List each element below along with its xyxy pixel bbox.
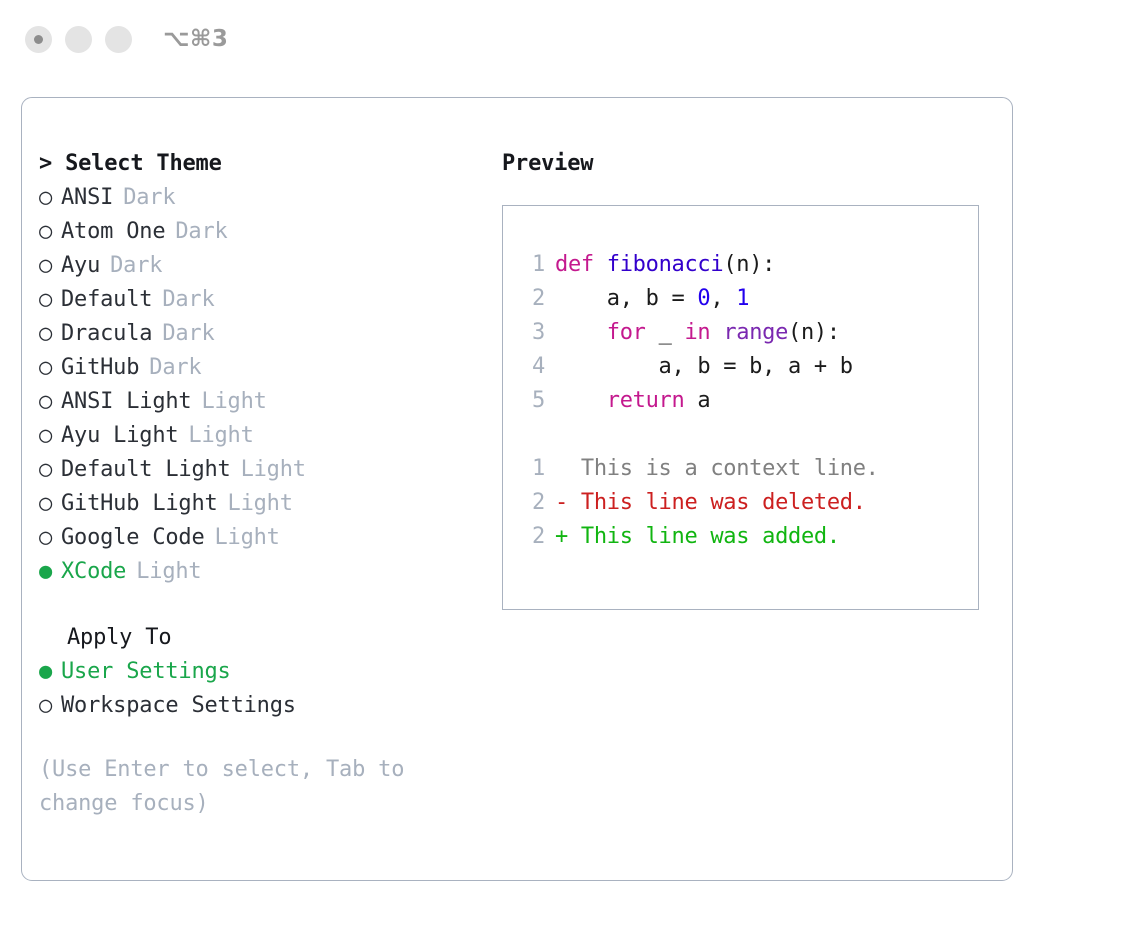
traffic-light-group [25,26,132,53]
code-token-plain: a, b = [555,286,697,311]
code-line-content: - This line was deleted. [555,486,866,520]
keyboard-shortcut-label: ⌥⌘3 [163,28,228,51]
radio-unselected-icon: ○ [39,249,61,283]
theme-variant-badge: Light [241,453,306,487]
code-line: 2 a, b = 0, 1 [519,282,978,316]
radio-unselected-icon: ○ [39,283,61,317]
code-line-number: 1 [519,248,545,282]
code-line-number: 3 [519,316,545,350]
theme-option-label: Default Light [61,453,231,487]
radio-unselected-icon: ○ [39,385,61,419]
theme-option-label: ANSI Light [61,385,191,419]
preview-title: Preview [502,147,1012,181]
code-token-plain: a, b = b, a + b [555,354,853,379]
code-line: 3 for _ in range(n): [519,316,978,350]
window-maximize-button[interactable] [105,26,132,53]
code-line-number: 5 [519,384,545,418]
radio-selected-icon: ● [39,655,61,689]
radio-unselected-icon: ○ [39,487,61,521]
theme-option-label: Google Code [61,521,205,555]
theme-option-dracula[interactable]: ○DraculaDark [39,317,502,351]
title-bar: ⌥⌘3 [0,0,1140,78]
code-token-kw: for [607,320,646,345]
code-token-kw: in [684,320,710,345]
code-token-ctx: This is a context line. [555,456,879,481]
radio-unselected-icon: ○ [39,689,61,723]
code-token-plain [555,388,607,413]
code-line-number: 2 [519,486,545,520]
code-line: 2+ This line was added. [519,520,978,554]
theme-option-github-light[interactable]: ○GitHub LightLight [39,487,502,521]
theme-option-ayu-light[interactable]: ○Ayu LightLight [39,419,502,453]
code-token-del: - This line was deleted. [555,490,866,515]
theme-option-label: ANSI [61,181,113,215]
code-token-kw: def [555,252,594,277]
code-line-number: 2 [519,520,545,554]
theme-variant-badge: Dark [162,317,214,351]
code-line-content: for _ in range(n): [555,316,840,350]
code-line-content: def fibonacci(n): [555,248,775,282]
code-line: 2- This line was deleted. [519,486,978,520]
radio-unselected-icon: ○ [39,419,61,453]
theme-variant-badge: Light [136,555,201,589]
theme-variant-badge: Dark [110,249,162,283]
code-line: 1 This is a context line. [519,452,978,486]
code-token-plain [594,252,607,277]
radio-unselected-icon: ○ [39,215,61,249]
code-token-plain: , [710,286,736,311]
code-line-number: 4 [519,350,545,384]
code-line-content: This is a context line. [555,452,879,486]
main-panel: > Select Theme ○ANSIDark○Atom OneDark○Ay… [21,97,1013,881]
apply-to-option-label: User Settings [61,655,231,689]
radio-unselected-icon: ○ [39,453,61,487]
code-line-content: a, b = b, a + b [555,350,853,384]
theme-picker-column: > Select Theme ○ANSIDark○Atom OneDark○Ay… [22,98,502,880]
keyboard-hint: (Use Enter to select, Tab to change focu… [39,753,443,821]
preview-column: Preview 1def fibonacci(n):2 a, b = 0, 13… [502,98,1012,880]
window-close-dot [34,35,43,44]
theme-option-github[interactable]: ○GitHubDark [39,351,502,385]
window-minimize-button[interactable] [65,26,92,53]
theme-option-label: Dracula [61,317,152,351]
theme-option-label: Atom One [61,215,165,249]
radio-unselected-icon: ○ [39,351,61,385]
apply-to-heading: Apply To [39,621,502,655]
apply-to-option-label: Workspace Settings [61,689,296,723]
apply-to-option-list: ●User Settings○Workspace Settings [39,655,502,723]
code-line: 4 a, b = b, a + b [519,350,978,384]
theme-option-xcode[interactable]: ●XCodeLight [39,555,502,589]
theme-variant-badge: Light [201,385,266,419]
radio-unselected-icon: ○ [39,181,61,215]
code-token-fn: fibonacci [607,252,724,277]
code-token-builtin: range [723,320,788,345]
code-line-content: return a [555,384,710,418]
theme-option-label: GitHub [61,351,139,385]
theme-option-atom-one[interactable]: ○Atom OneDark [39,215,502,249]
code-token-num: 1 [736,286,749,311]
theme-variant-badge: Dark [162,283,214,317]
theme-option-ayu[interactable]: ○AyuDark [39,249,502,283]
code-line-content: + This line was added. [555,520,840,554]
theme-option-label: Ayu [61,249,100,283]
apply-to-option-workspace-settings[interactable]: ○Workspace Settings [39,689,502,723]
hint-gap [39,723,502,753]
theme-option-google-code[interactable]: ○Google CodeLight [39,521,502,555]
apply-to-option-user-settings[interactable]: ●User Settings [39,655,502,689]
page-title: > Select Theme [39,147,502,181]
theme-variant-badge: Dark [149,351,201,385]
theme-variant-badge: Light [215,521,280,555]
code-token-plain: (n): [788,320,840,345]
code-token-plain: a [684,388,710,413]
code-line-number: 2 [519,282,545,316]
code-preview-box: 1def fibonacci(n):2 a, b = 0, 13 for _ i… [502,205,979,610]
theme-option-default[interactable]: ○DefaultDark [39,283,502,317]
theme-option-label: GitHub Light [61,487,218,521]
theme-option-default-light[interactable]: ○Default LightLight [39,453,502,487]
code-blank-line [519,418,978,452]
code-token-add: + This line was added. [555,524,840,549]
code-token-plain: _ [646,320,685,345]
code-token-plain: (n): [723,252,775,277]
section-gap [39,589,502,621]
code-token-kw: return [607,388,685,413]
code-token-plain [555,320,607,345]
radio-unselected-icon: ○ [39,521,61,555]
theme-option-list: ○ANSIDark○Atom OneDark○AyuDark○DefaultDa… [39,181,502,589]
theme-variant-badge: Dark [123,181,175,215]
theme-variant-badge: Dark [175,215,227,249]
theme-option-label: Default [61,283,152,317]
theme-option-ansi[interactable]: ○ANSIDark [39,181,502,215]
theme-variant-badge: Light [188,419,253,453]
theme-option-label: Ayu Light [61,419,178,453]
radio-unselected-icon: ○ [39,317,61,351]
window-close-button[interactable] [25,26,52,53]
theme-option-label: XCode [61,555,126,589]
theme-variant-badge: Light [228,487,293,521]
app-window: ⌥⌘3 > Select Theme ○ANSIDark○Atom OneDar… [0,0,1140,934]
code-line-content: a, b = 0, 1 [555,282,749,316]
code-line-number: 1 [519,452,545,486]
code-line: 5 return a [519,384,978,418]
code-line: 1def fibonacci(n): [519,248,978,282]
code-token-plain [710,320,723,345]
code-token-num: 0 [697,286,710,311]
theme-option-ansi-light[interactable]: ○ANSI LightLight [39,385,502,419]
radio-selected-icon: ● [39,555,61,589]
